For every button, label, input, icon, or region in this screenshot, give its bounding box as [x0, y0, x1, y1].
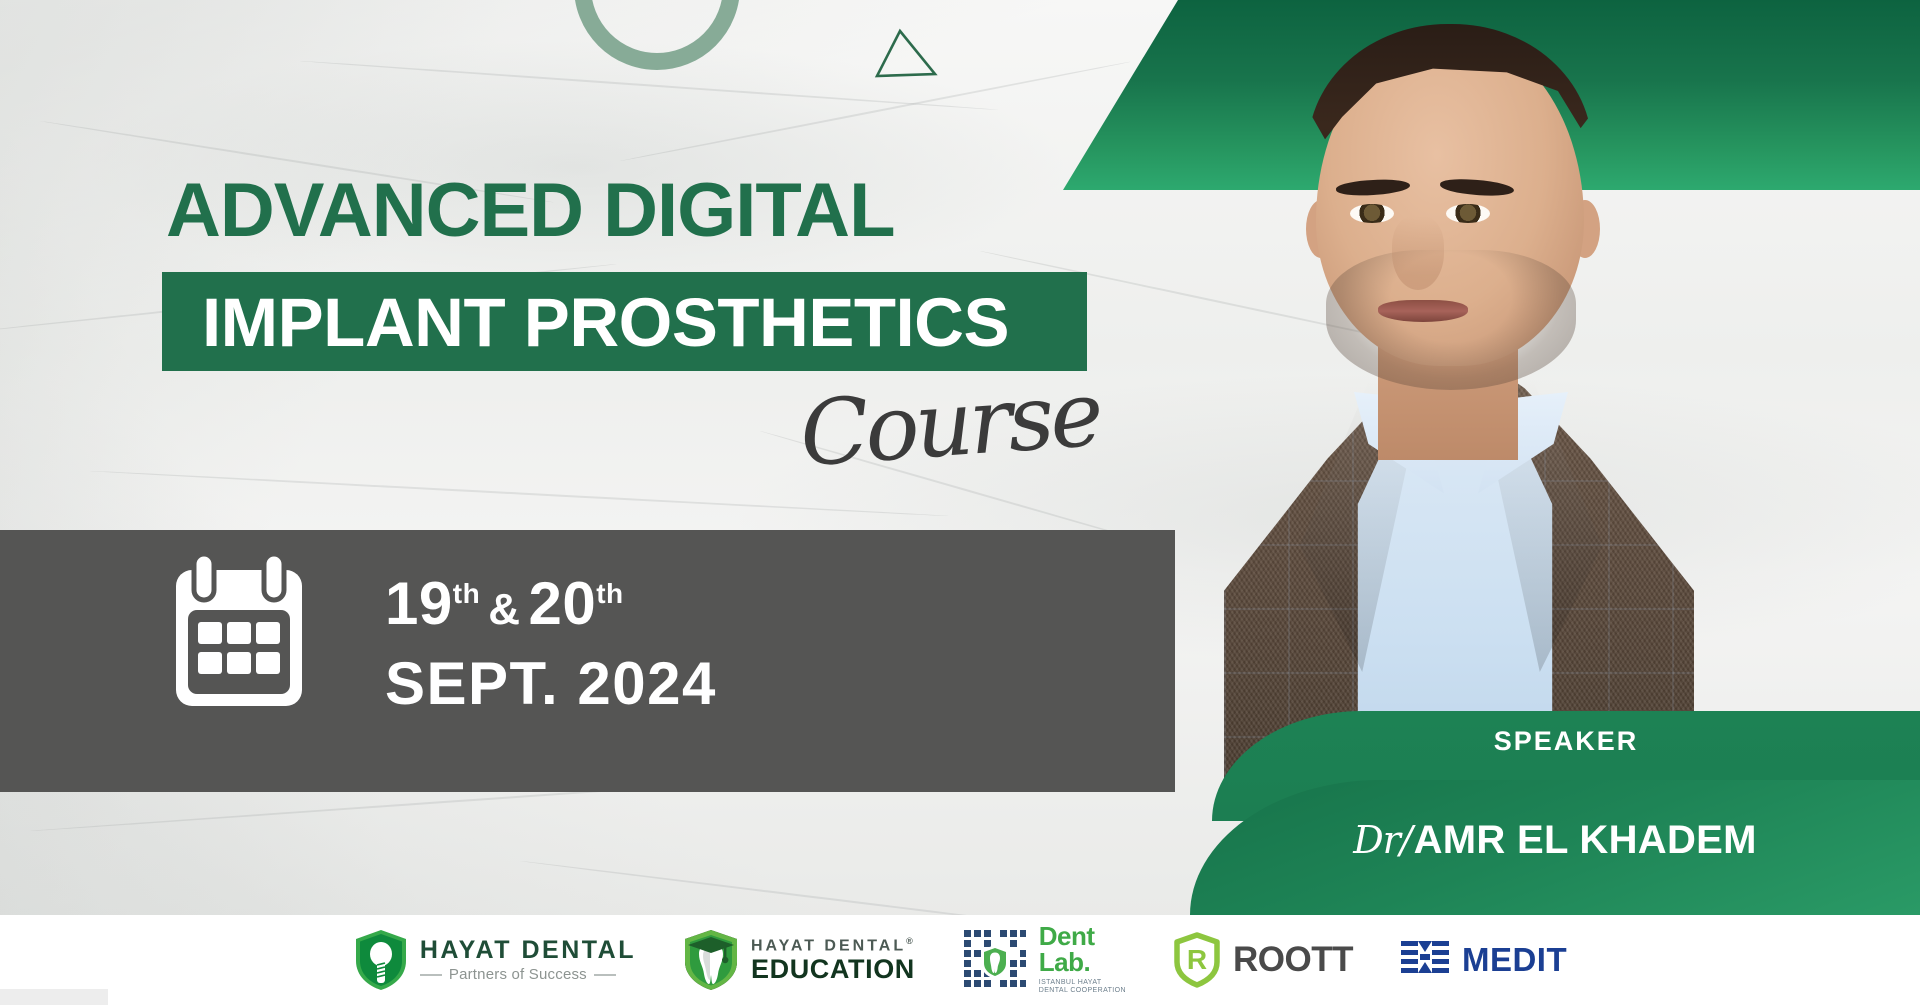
date-text: 19th&20th SEPT. 2024 [385, 556, 717, 720]
speaker-portrait [1140, 0, 1920, 800]
portrait-mouth [1378, 300, 1468, 322]
date-day-first: 19 [385, 570, 453, 637]
date-separator: & [480, 585, 528, 634]
hayat-dental-name: HAYAT DENTAL [420, 937, 636, 963]
medit-m-icon [1399, 935, 1451, 985]
hayat-dental-wordmark: HAYAT DENTAL Partners of Success [420, 937, 636, 983]
dent-lab-line-1: Dent [1039, 924, 1126, 949]
sponsor-roott: R ROOTT [1172, 932, 1353, 988]
headline-line-2: IMPLANT PROSTHETICS [202, 287, 1009, 359]
course-script-word: Course [797, 362, 1103, 488]
shield-implant-icon [353, 928, 409, 992]
portrait-nose [1392, 216, 1444, 290]
sponsor-logo-bar: HAYAT DENTAL Partners of Success [0, 915, 1920, 1005]
speaker-name-row: Dr/AMR EL KHADEM [1190, 818, 1920, 863]
calendar-icon [160, 552, 318, 722]
portrait-eye-right [1446, 204, 1490, 223]
corner-chip [0, 989, 108, 1005]
hayat-education-bottom: EDUCATION [751, 955, 916, 983]
sponsor-hayat-dental-education: HAYAT DENTAL® EDUCATION [682, 928, 916, 992]
portrait-eye-left [1350, 204, 1394, 223]
date-days: 19th&20th [385, 556, 717, 648]
date-day-first-suffix: th [453, 578, 480, 609]
promo-banner: ADVANCED DIGITAL IMPLANT PROSTHETICS Cou… [0, 0, 1920, 1005]
hayat-education-top: HAYAT DENTAL [751, 937, 906, 954]
portrait-beard [1326, 250, 1576, 390]
sponsor-dent-lab: Dent Lab. ISTANBUL HAYAT DENTAL COOPERAT… [962, 924, 1126, 996]
dent-lab-line-2: Lab. [1039, 949, 1126, 976]
dent-lab-subtext: ISTANBUL HAYAT DENTAL COOPERATION [1039, 979, 1126, 997]
date-day-second-suffix: th [596, 578, 623, 609]
qr-shield-icon [962, 928, 1028, 992]
sponsor-medit: MEDIT [1399, 935, 1567, 985]
speaker-name: AMR EL KHADEM [1414, 818, 1757, 862]
hayat-dental-tagline: Partners of Success [449, 967, 587, 983]
triangle-outline-decor [874, 28, 938, 80]
hayat-dental-tagline-row: Partners of Success [420, 967, 636, 983]
registered-mark: ® [906, 936, 916, 946]
roott-shield-icon: R [1172, 932, 1222, 988]
sponsor-hayat-dental: HAYAT DENTAL Partners of Success [353, 928, 636, 992]
graduation-tooth-icon [682, 928, 740, 992]
roott-name: ROOTT [1233, 940, 1353, 980]
speaker-honorific: Dr/ [1353, 818, 1413, 862]
headline-line-1: ADVANCED DIGITAL [166, 169, 895, 253]
medit-name: MEDIT [1462, 941, 1567, 979]
date-month-year: SEPT. 2024 [385, 648, 717, 720]
dent-lab-wordmark: Dent Lab. ISTANBUL HAYAT DENTAL COOPERAT… [1039, 924, 1126, 996]
tagline-rule-right [594, 974, 616, 976]
speaker-label: SPEAKER [1212, 726, 1920, 757]
hayat-education-top-row: HAYAT DENTAL® [751, 937, 916, 955]
hayat-education-wordmark: HAYAT DENTAL® EDUCATION [751, 937, 916, 983]
date-day-second: 20 [528, 570, 596, 637]
tagline-rule-left [420, 974, 442, 976]
svg-text:R: R [1187, 944, 1207, 975]
